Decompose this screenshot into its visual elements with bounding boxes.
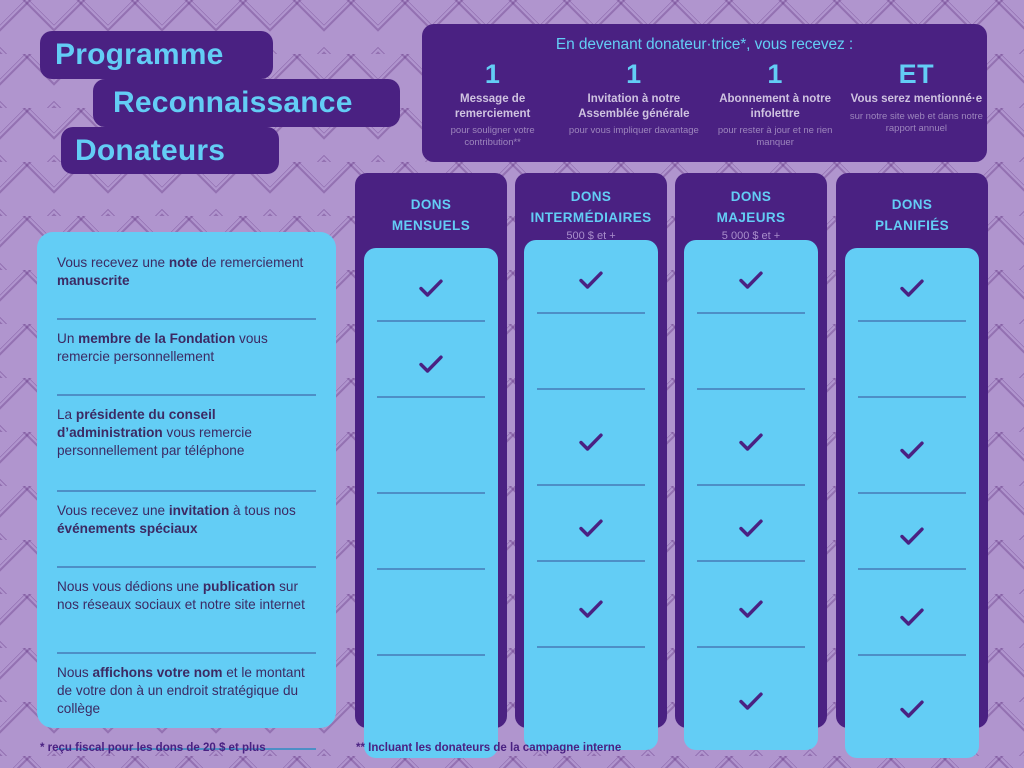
check-icon — [899, 440, 925, 460]
tier-title-line2: INTERMÉDIAIRES — [524, 208, 658, 229]
tier-check-cell — [377, 666, 485, 752]
benefit-row-text: Vous recevez une invitation à tous nos é… — [57, 502, 316, 538]
check-icon — [578, 518, 604, 538]
donation-tier-columns: DONSMENSUELSDONSINTERMÉDIAIRES500 $ et +… — [355, 173, 995, 728]
header-benefit-list: 1Message de remerciementpour souligner v… — [422, 60, 987, 149]
tier-column-body — [364, 248, 498, 758]
tier-check-cell — [377, 504, 485, 570]
benefit-row-text: Nous affichons votre nom et le montant d… — [57, 664, 316, 718]
tier-column-body — [684, 240, 818, 750]
header-benefit-count: 1 — [567, 60, 700, 88]
tier-check-cell — [858, 504, 966, 570]
tier-title-line2: MENSUELS — [364, 216, 498, 237]
tier-title-line1: DONS — [364, 195, 498, 216]
check-icon — [738, 518, 764, 538]
header-benefit-count: ET — [850, 60, 983, 88]
check-icon — [738, 270, 764, 290]
title-line-2: Reconnaissance — [93, 79, 400, 127]
check-icon — [899, 699, 925, 719]
header-benefit-label: Message de remerciement — [426, 92, 559, 121]
tier-check-cell — [697, 496, 805, 562]
tier-check-cell — [858, 408, 966, 494]
header-benefit-sublabel: pour rester à jour et ne rien manquer — [709, 125, 842, 149]
tier-column-header: DONSMENSUELS — [364, 187, 498, 248]
tier-check-cell — [697, 400, 805, 486]
header-benefit-item: 1Invitation à notre Assemblée généralepo… — [563, 60, 704, 149]
header-intro-text: En devenant donateur·trice*, vous receve… — [422, 36, 987, 54]
header-benefit-label: Vous serez mentionné·e — [850, 92, 983, 106]
tier-check-cell — [697, 248, 805, 314]
tier-column-dons-planifies: DONSPLANIFIÉS — [836, 173, 988, 728]
tier-column-body — [845, 248, 979, 758]
tier-column-header: DONSPLANIFIÉS — [845, 187, 979, 248]
title-line-3: Donateurs — [61, 127, 279, 174]
tier-check-cell — [858, 580, 966, 656]
tier-check-cell — [858, 332, 966, 398]
check-icon — [738, 599, 764, 619]
donor-benefits-header-panel: En devenant donateur·trice*, vous receve… — [422, 24, 987, 162]
title-line-2-text: Reconnaissance — [113, 86, 353, 120]
title-line-3-text: Donateurs — [75, 134, 225, 168]
header-benefit-item: ETVous serez mentionné·esur notre site w… — [846, 60, 987, 149]
benefit-row: Vous recevez une note de remerciement ma… — [57, 254, 316, 320]
tier-check-cell — [697, 572, 805, 648]
header-benefit-sublabel: sur notre site web et dans notre rapport… — [850, 111, 983, 135]
check-icon — [899, 278, 925, 298]
tier-check-cell — [377, 580, 485, 656]
tier-check-cell — [858, 666, 966, 752]
tier-check-cell — [537, 400, 645, 486]
header-benefit-item: 1Abonnement à notre infolettrepour reste… — [705, 60, 846, 149]
tier-check-cell — [377, 332, 485, 398]
benefit-row-text: Vous recevez une note de remerciement ma… — [57, 254, 316, 290]
tier-check-cell — [537, 324, 645, 390]
benefits-list-panel: Vous recevez une note de remerciement ma… — [37, 232, 336, 728]
tier-check-cell — [377, 408, 485, 494]
tier-column-dons-majeurs: DONSMAJEURS5 000 $ et + — [675, 173, 827, 728]
tier-check-cell — [697, 658, 805, 744]
benefit-row: La présidente du conseil d’administratio… — [57, 406, 316, 492]
header-benefit-count: 1 — [709, 60, 842, 88]
tier-check-cell — [858, 256, 966, 322]
tier-check-cell — [537, 572, 645, 648]
check-icon — [899, 526, 925, 546]
tier-title-line1: DONS — [524, 187, 658, 208]
page-title: Programme Reconnaissance Donateurs — [0, 0, 420, 180]
header-benefit-item: 1Message de remerciementpour souligner v… — [422, 60, 563, 149]
check-icon — [899, 607, 925, 627]
tier-column-header: DONSINTERMÉDIAIRES500 $ et + — [524, 187, 658, 240]
tier-title-line2: PLANIFIÉS — [845, 216, 979, 237]
benefit-row-text: Un membre de la Fondation vous remercie … — [57, 330, 316, 366]
footnote-tax-receipt: * reçu fiscal pour les dons de 20 $ et p… — [40, 742, 266, 754]
tier-column-dons-intermediaires: DONSINTERMÉDIAIRES500 $ et + — [515, 173, 667, 728]
benefit-row: Nous vous dédions une publication sur no… — [57, 578, 316, 654]
header-benefit-label: Abonnement à notre infolettre — [709, 92, 842, 121]
check-icon — [418, 278, 444, 298]
benefit-row: Vous recevez une invitation à tous nos é… — [57, 502, 316, 568]
tier-check-cell — [537, 658, 645, 744]
tier-column-body — [524, 240, 658, 750]
benefit-row: Un membre de la Fondation vous remercie … — [57, 330, 316, 396]
check-icon — [738, 691, 764, 711]
tier-check-cell — [537, 248, 645, 314]
tier-column-dons-mensuels: DONSMENSUELS — [355, 173, 507, 728]
tier-title-line1: DONS — [845, 195, 979, 216]
check-icon — [418, 354, 444, 374]
header-benefit-sublabel: pour vous impliquer davantage — [567, 125, 700, 137]
tier-check-cell — [377, 256, 485, 322]
tier-column-header: DONSMAJEURS5 000 $ et + — [684, 187, 818, 240]
check-icon — [578, 432, 604, 452]
tier-title-line1: DONS — [684, 187, 818, 208]
tier-check-cell — [697, 324, 805, 390]
tier-title-line2: MAJEURS — [684, 208, 818, 229]
benefit-row: Nous affichons votre nom et le montant d… — [57, 664, 316, 750]
benefit-row-text: La présidente du conseil d’administratio… — [57, 406, 316, 460]
check-icon — [578, 270, 604, 290]
check-icon — [738, 432, 764, 452]
footnote-internal-campaign: ** Incluant les donateurs de la campagne… — [356, 742, 621, 754]
title-line-1: Programme — [40, 31, 273, 79]
tier-check-cell — [537, 496, 645, 562]
benefit-row-text: Nous vous dédions une publication sur no… — [57, 578, 316, 614]
title-line-1-text: Programme — [55, 38, 224, 72]
check-icon — [578, 599, 604, 619]
poster-canvas: Programme Reconnaissance Donateurs En de… — [0, 0, 1024, 768]
header-benefit-label: Invitation à notre Assemblée générale — [567, 92, 700, 121]
header-benefit-count: 1 — [426, 60, 559, 88]
header-benefit-sublabel: pour souligner votre contribution** — [426, 125, 559, 149]
